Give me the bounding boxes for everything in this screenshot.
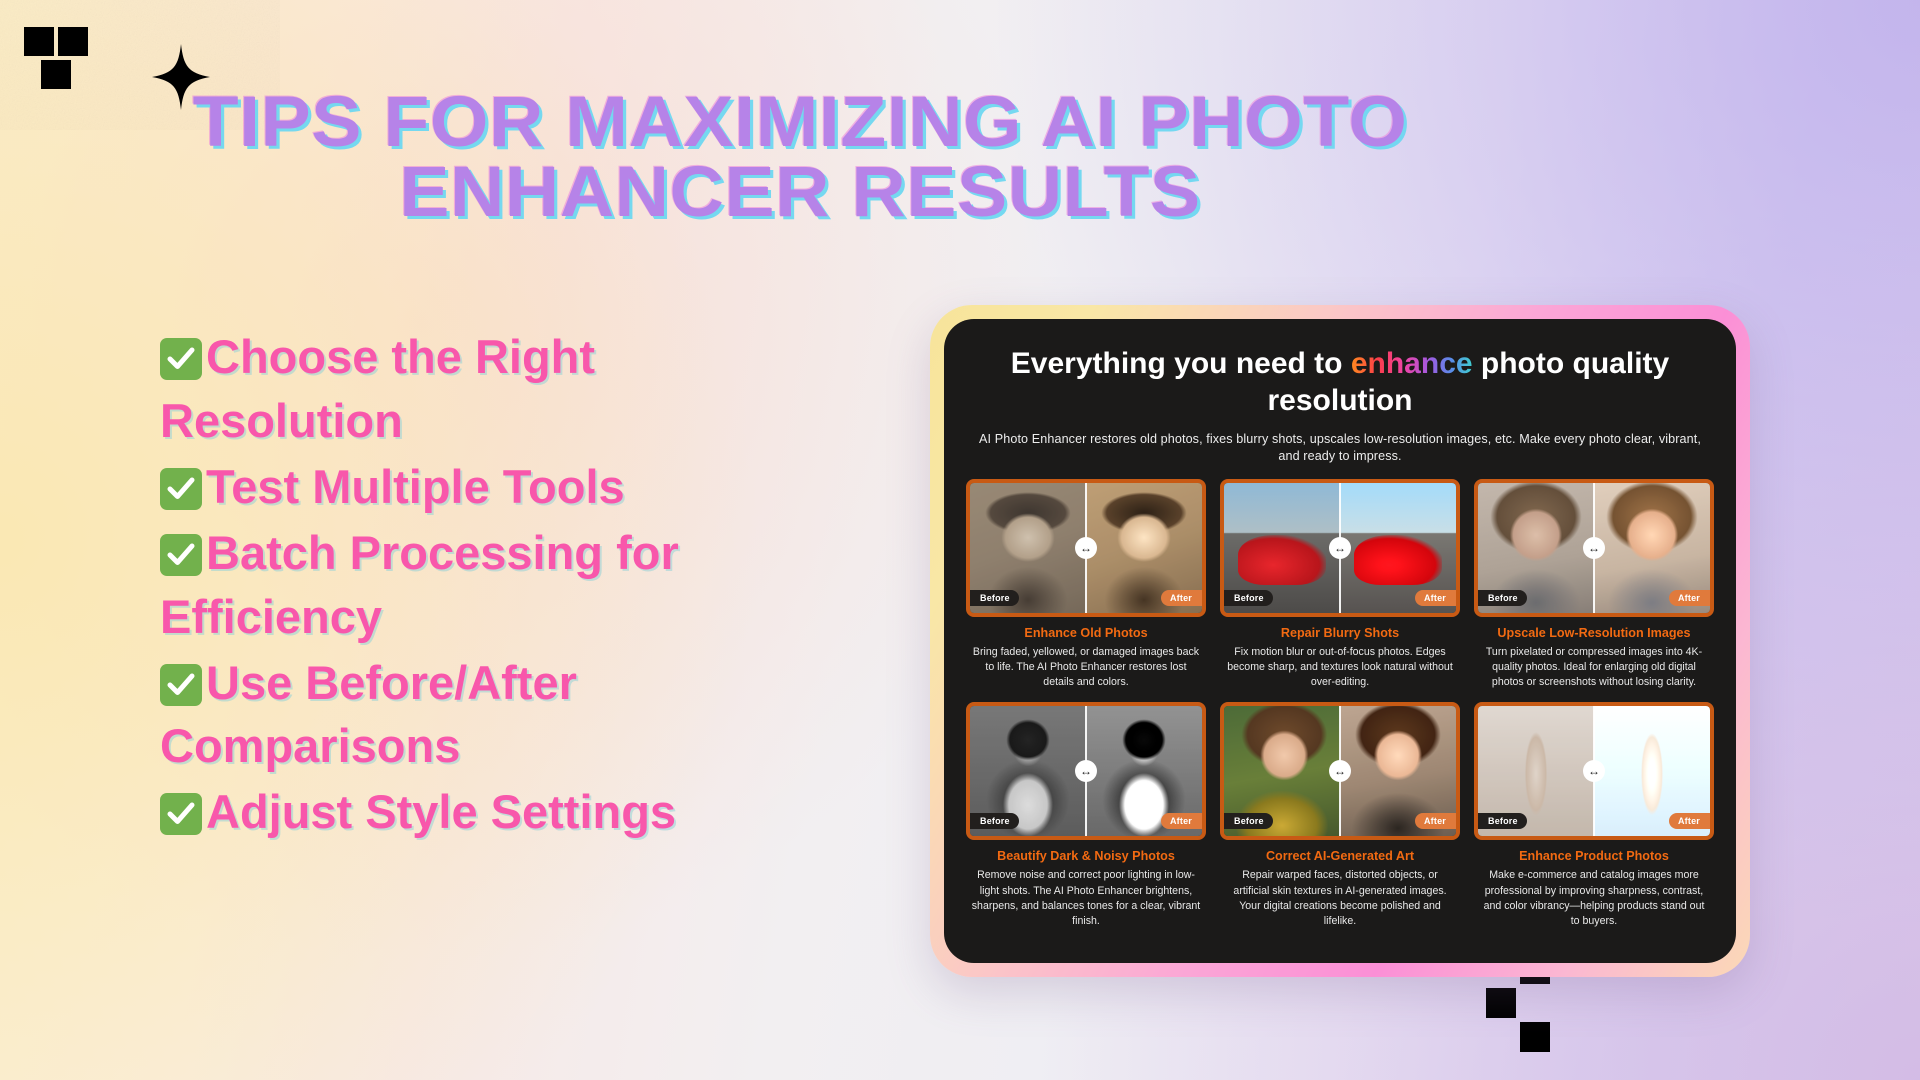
promo-card-panel: Everything you need to enhance photo qua…	[944, 319, 1736, 963]
list-item: Choose the Right Resolution	[160, 325, 820, 453]
feature-title: Enhance Product Photos	[1519, 849, 1669, 863]
before-label: Before	[1222, 813, 1273, 829]
card-heading-highlight: enhance	[1351, 347, 1473, 380]
card-subtitle: AI Photo Enhancer restores old photos, f…	[970, 431, 1710, 465]
check-icon	[160, 793, 202, 835]
feature-card: ↔ Before After Repair Blurry Shots Fix m…	[1220, 479, 1460, 690]
list-item: Use Before/After Comparisons	[160, 651, 820, 779]
list-item-label: Choose the Right Resolution	[160, 330, 595, 447]
before-label: Before	[968, 590, 1019, 606]
list-item: Adjust Style Settings	[160, 780, 820, 844]
promo-card: Everything you need to enhance photo qua…	[930, 305, 1750, 977]
list-item: Batch Processing for Efficiency	[160, 521, 820, 649]
after-label: After	[1415, 813, 1458, 829]
feature-card: ↔ Before After Enhance Old Photos Bring …	[966, 479, 1206, 690]
feature-card: ↔ Before After Correct AI-Generated Art …	[1220, 702, 1460, 928]
tips-list: Choose the Right Resolution Test Multipl…	[160, 325, 820, 846]
feature-card: ↔ Before After Upscale Low-Resolution Im…	[1474, 479, 1714, 690]
after-label: After	[1161, 590, 1204, 606]
feature-description: Repair warped faces, distorted objects, …	[1220, 868, 1460, 928]
feature-description: Fix motion blur or out-of-focus photos. …	[1220, 645, 1460, 690]
feature-description: Bring faded, yellowed, or damaged images…	[966, 645, 1206, 690]
feature-grid: ↔ Before After Enhance Old Photos Bring …	[966, 479, 1714, 928]
feature-description: Turn pixelated or compressed images into…	[1474, 645, 1714, 690]
deco-square	[24, 27, 54, 56]
feature-title: Beautify Dark & Noisy Photos	[997, 849, 1175, 863]
list-item-label: Batch Processing for Efficiency	[160, 526, 679, 643]
deco-square	[41, 60, 71, 89]
before-after-slider[interactable]: ↔ Before After	[1474, 702, 1714, 840]
page-title: TIPS FOR MAXIMIZING AI PHOTO ENHANCER RE…	[175, 88, 1426, 227]
feature-title: Upscale Low-Resolution Images	[1497, 626, 1690, 640]
before-label: Before	[1222, 590, 1273, 606]
feature-card: ↔ Before After Enhance Product Photos Ma…	[1474, 702, 1714, 928]
deco-square	[1520, 1022, 1550, 1052]
after-label: After	[1669, 590, 1712, 606]
after-label: After	[1161, 813, 1204, 829]
list-item-label: Test Multiple Tools	[206, 460, 625, 513]
check-icon	[160, 534, 202, 576]
before-label: Before	[968, 813, 1019, 829]
feature-card: ↔ Before After Beautify Dark & Noisy Pho…	[966, 702, 1206, 928]
list-item: Test Multiple Tools	[160, 455, 820, 519]
before-after-slider[interactable]: ↔ Before After	[1220, 479, 1460, 617]
feature-title: Correct AI-Generated Art	[1266, 849, 1414, 863]
before-label: Before	[1476, 813, 1527, 829]
before-after-slider[interactable]: ↔ Before After	[966, 702, 1206, 840]
feature-description: Remove noise and correct poor lighting i…	[966, 868, 1206, 928]
list-item-label: Adjust Style Settings	[206, 785, 676, 838]
poster-canvas: TIPS FOR MAXIMIZING AI PHOTO ENHANCER RE…	[0, 0, 1920, 1080]
after-label: After	[1415, 590, 1458, 606]
deco-square	[1486, 988, 1516, 1018]
check-icon	[160, 664, 202, 706]
before-label: Before	[1476, 590, 1527, 606]
decoration-squares-top-left	[24, 27, 88, 89]
deco-square	[58, 27, 88, 56]
before-after-slider[interactable]: ↔ Before After	[1474, 479, 1714, 617]
card-heading-prefix: Everything you need to	[1011, 347, 1351, 380]
before-after-slider[interactable]: ↔ Before After	[1220, 702, 1460, 840]
check-icon	[160, 468, 202, 510]
before-after-slider[interactable]: ↔ Before After	[966, 479, 1206, 617]
feature-title: Repair Blurry Shots	[1281, 626, 1399, 640]
card-heading: Everything you need to enhance photo qua…	[966, 339, 1714, 419]
list-item-label: Use Before/After Comparisons	[160, 656, 577, 773]
after-label: After	[1669, 813, 1712, 829]
feature-description: Make e-commerce and catalog images more …	[1474, 868, 1714, 928]
check-icon	[160, 338, 202, 380]
feature-title: Enhance Old Photos	[1024, 626, 1147, 640]
